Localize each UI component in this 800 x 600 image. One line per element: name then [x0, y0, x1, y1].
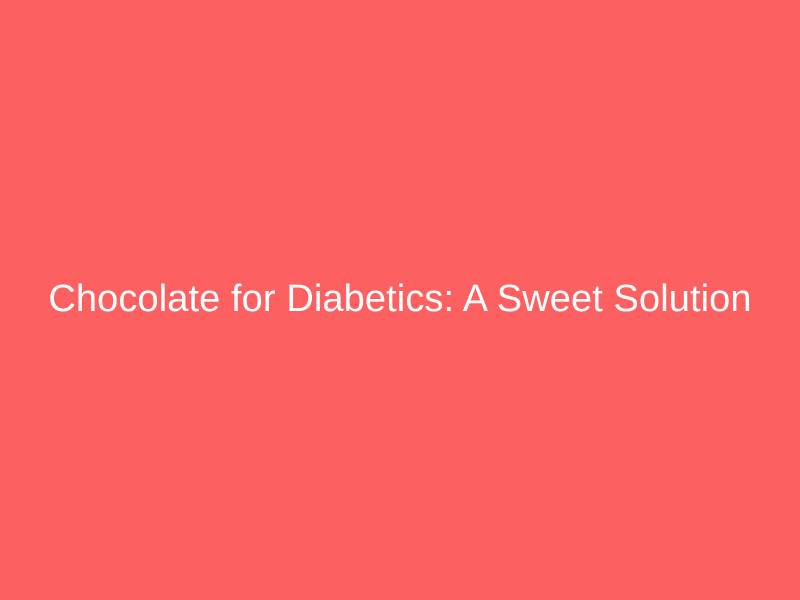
page-title: Chocolate for Diabetics: A Sweet Solutio… [28, 276, 771, 324]
title-banner: Chocolate for Diabetics: A Sweet Solutio… [0, 0, 800, 600]
